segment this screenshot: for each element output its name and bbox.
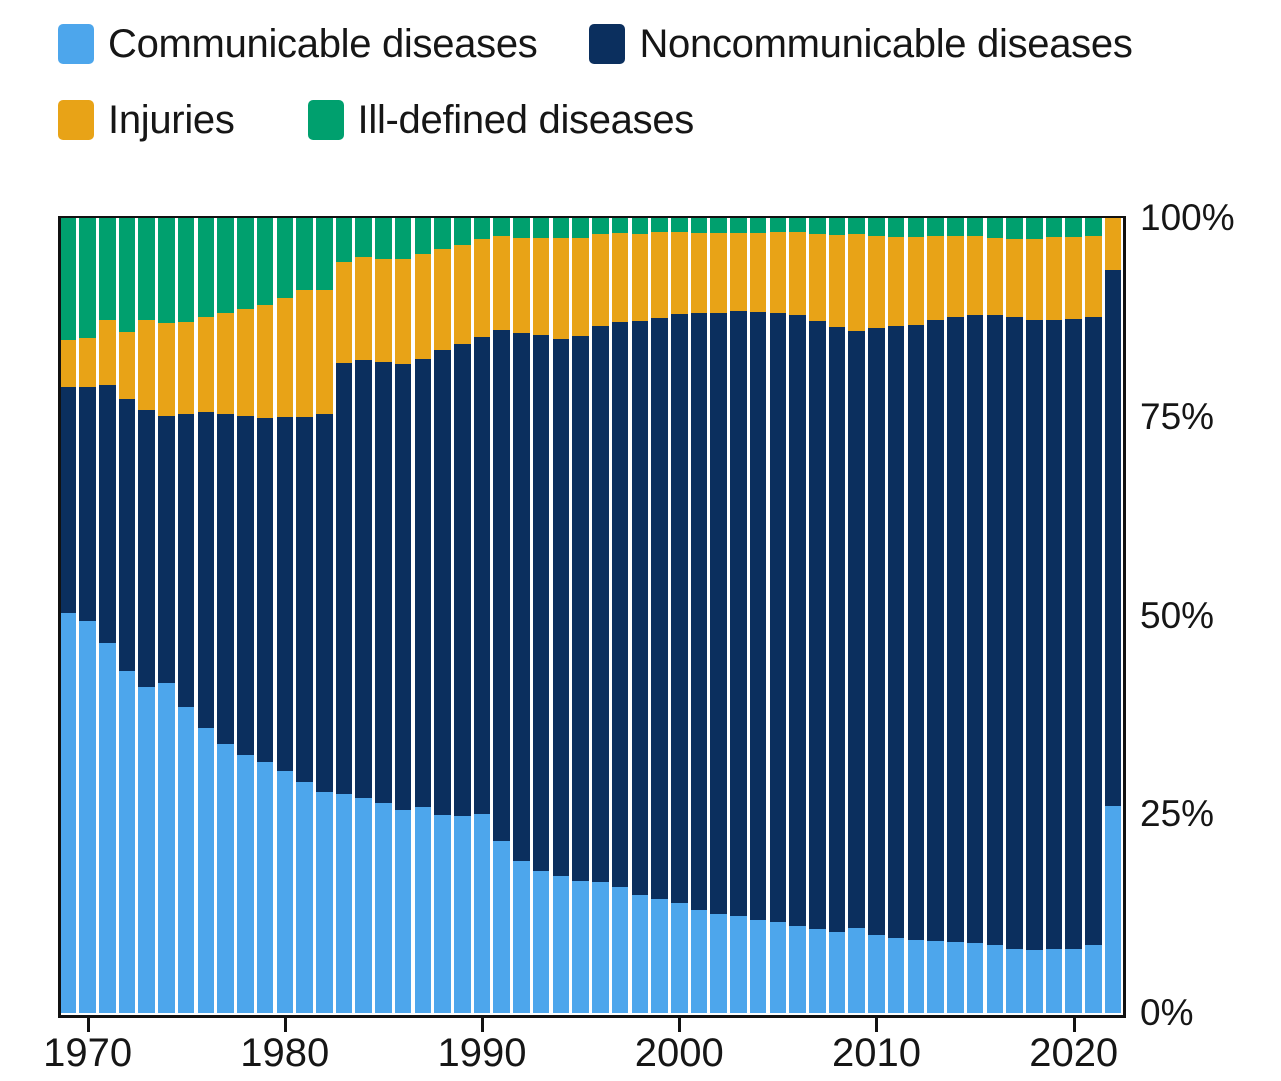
segment-ill-defined-diseases-2004: [750, 218, 767, 233]
segment-noncommunicable-diseases-2011: [888, 326, 905, 938]
segment-ill-defined-diseases-1971: [99, 218, 116, 320]
segment-communicable-diseases-1976: [198, 728, 215, 1013]
segment-communicable-diseases-1999: [651, 899, 668, 1013]
segment-injuries-1983: [336, 262, 353, 363]
segment-injuries-1978: [237, 309, 254, 416]
bar-2014[interactable]: [947, 218, 964, 1013]
segment-noncommunicable-diseases-1978: [237, 416, 254, 755]
segment-communicable-diseases-1983: [336, 794, 353, 1013]
segment-injuries-1996: [592, 234, 609, 326]
segment-ill-defined-diseases-1992: [513, 218, 530, 238]
segment-injuries-1985: [375, 259, 392, 362]
segment-injuries-1994: [553, 238, 570, 339]
segment-noncommunicable-diseases-2014: [947, 317, 964, 942]
segment-injuries-2016: [987, 238, 1004, 315]
segment-injuries-1977: [217, 313, 234, 415]
segment-injuries-2020: [1065, 237, 1082, 319]
y-axis-line: [58, 218, 61, 1017]
bar-2022[interactable]: [1105, 218, 1122, 1013]
bar-2004[interactable]: [750, 218, 767, 1013]
segment-noncommunicable-diseases-2003: [730, 311, 747, 916]
bar-1985[interactable]: [375, 218, 392, 1013]
segment-noncommunicable-diseases-1972: [119, 399, 136, 671]
segment-communicable-diseases-2007: [809, 929, 826, 1013]
bar-2000[interactable]: [671, 218, 688, 1013]
segment-ill-defined-diseases-1970: [79, 218, 96, 338]
segment-noncommunicable-diseases-2001: [691, 313, 708, 909]
segment-communicable-diseases-1994: [553, 876, 570, 1013]
bar-2001[interactable]: [691, 218, 708, 1013]
y-tick-50pct: 50%: [1140, 597, 1214, 634]
segment-communicable-diseases-1969: [60, 613, 77, 1013]
segment-noncommunicable-diseases-2015: [967, 315, 984, 943]
segment-injuries-2009: [848, 234, 865, 331]
segment-noncommunicable-diseases-1971: [99, 385, 116, 643]
bar-1998[interactable]: [632, 218, 649, 1013]
segment-ill-defined-diseases-1994: [553, 218, 570, 238]
bar-1989[interactable]: [454, 218, 471, 1013]
segment-injuries-2004: [750, 233, 767, 312]
segment-injuries-2000: [671, 232, 688, 315]
segment-ill-defined-diseases-2018: [1026, 218, 1043, 239]
segment-communicable-diseases-2005: [770, 922, 787, 1013]
segment-communicable-diseases-1998: [632, 895, 649, 1013]
segment-injuries-1986: [395, 259, 412, 363]
segment-injuries-2012: [908, 237, 925, 325]
segment-ill-defined-diseases-1976: [198, 218, 215, 317]
segment-injuries-1973: [138, 320, 155, 411]
segment-injuries-1988: [434, 249, 451, 350]
segment-injuries-1989: [454, 245, 471, 344]
segment-injuries-2011: [888, 237, 905, 326]
segment-noncommunicable-diseases-1983: [336, 363, 353, 794]
segment-noncommunicable-diseases-2013: [927, 320, 944, 941]
chart-plot-wrapper: 100%75%50%25%0% 197019801990200020102020: [0, 0, 1281, 1081]
segment-noncommunicable-diseases-1977: [217, 414, 234, 743]
bar-1993[interactable]: [533, 218, 550, 1013]
segment-noncommunicable-diseases-2012: [908, 325, 925, 940]
segment-ill-defined-diseases-2005: [770, 218, 787, 232]
stacked-bar-plot-area: [58, 218, 1123, 1013]
y-tick-100pct: 100%: [1140, 199, 1235, 236]
segment-ill-defined-diseases-1986: [395, 218, 412, 259]
segment-ill-defined-diseases-2000: [671, 218, 688, 232]
segment-ill-defined-diseases-2019: [1046, 218, 1063, 237]
segment-communicable-diseases-2019: [1046, 949, 1063, 1013]
segment-noncommunicable-diseases-1982: [316, 414, 333, 792]
segment-injuries-1971: [99, 320, 116, 385]
segment-communicable-diseases-1987: [415, 807, 432, 1013]
segment-noncommunicable-diseases-2008: [829, 327, 846, 932]
bar-1980[interactable]: [277, 218, 294, 1013]
segment-ill-defined-diseases-1989: [454, 218, 471, 245]
segment-noncommunicable-diseases-1980: [277, 417, 294, 771]
x-axis-line: [58, 1015, 1126, 1018]
segment-communicable-diseases-1995: [572, 881, 589, 1013]
segment-injuries-2003: [730, 233, 747, 311]
segment-ill-defined-diseases-2016: [987, 218, 1004, 238]
segment-noncommunicable-diseases-1976: [198, 412, 215, 728]
bar-1973[interactable]: [138, 218, 155, 1013]
y-tick-75pct: 75%: [1140, 398, 1214, 435]
bar-2020[interactable]: [1065, 218, 1082, 1013]
x-tick-mark-2020: [1073, 1018, 1076, 1032]
segment-ill-defined-diseases-1981: [296, 218, 313, 290]
segment-communicable-diseases-2008: [829, 932, 846, 1013]
segment-communicable-diseases-2016: [987, 945, 1004, 1013]
segment-noncommunicable-diseases-1984: [355, 360, 372, 798]
segment-communicable-diseases-1975: [178, 707, 195, 1013]
segment-communicable-diseases-2006: [789, 926, 806, 1013]
bar-1995[interactable]: [572, 218, 589, 1013]
segment-communicable-diseases-1973: [138, 687, 155, 1013]
segment-injuries-1970: [79, 338, 96, 387]
segment-injuries-2014: [947, 236, 964, 317]
bar-1984[interactable]: [355, 218, 372, 1013]
segment-communicable-diseases-2009: [848, 928, 865, 1013]
segment-communicable-diseases-1996: [592, 882, 609, 1013]
x-tick-label-1980: 1980: [240, 1031, 329, 1075]
segment-injuries-2007: [809, 234, 826, 321]
segment-communicable-diseases-2022: [1105, 806, 1122, 1013]
segment-injuries-2019: [1046, 237, 1063, 320]
bar-1970[interactable]: [79, 218, 96, 1013]
bar-1996[interactable]: [592, 218, 609, 1013]
segment-ill-defined-diseases-1991: [493, 218, 510, 236]
segment-injuries-1975: [178, 322, 195, 413]
segment-noncommunicable-diseases-1989: [454, 344, 471, 815]
segment-communicable-diseases-2003: [730, 916, 747, 1013]
segment-noncommunicable-diseases-1975: [178, 414, 195, 707]
segment-noncommunicable-diseases-2000: [671, 314, 688, 903]
segment-ill-defined-diseases-1982: [316, 218, 333, 290]
segment-ill-defined-diseases-2012: [908, 218, 925, 237]
segment-noncommunicable-diseases-2019: [1046, 320, 1063, 950]
bar-1978[interactable]: [237, 218, 254, 1013]
segment-injuries-1972: [119, 332, 136, 400]
segment-noncommunicable-diseases-1993: [533, 335, 550, 871]
segment-injuries-1993: [533, 238, 550, 335]
segment-injuries-1976: [198, 317, 215, 412]
bar-1971[interactable]: [99, 218, 116, 1013]
bar-1999[interactable]: [651, 218, 668, 1013]
segment-noncommunicable-diseases-2017: [1006, 317, 1023, 949]
segment-noncommunicable-diseases-2022: [1105, 270, 1122, 806]
bar-2018[interactable]: [1026, 218, 1043, 1013]
y-tick-25pct: 25%: [1140, 795, 1214, 832]
segment-noncommunicable-diseases-1979: [257, 418, 274, 762]
segment-noncommunicable-diseases-2009: [848, 331, 865, 928]
segment-injuries-1979: [257, 305, 274, 418]
segment-noncommunicable-diseases-1986: [395, 364, 412, 811]
segment-ill-defined-diseases-1998: [632, 218, 649, 234]
segment-injuries-1974: [158, 323, 175, 416]
segment-ill-defined-diseases-1979: [257, 218, 274, 305]
segment-communicable-diseases-2020: [1065, 949, 1082, 1013]
segment-injuries-2008: [829, 235, 846, 327]
bar-1975[interactable]: [178, 218, 195, 1013]
segment-communicable-diseases-2013: [927, 941, 944, 1013]
x-tick-label-2000: 2000: [635, 1031, 724, 1075]
segment-communicable-diseases-1986: [395, 810, 412, 1013]
segment-ill-defined-diseases-2017: [1006, 218, 1023, 239]
segment-noncommunicable-diseases-1990: [474, 337, 491, 814]
segment-ill-defined-diseases-2008: [829, 218, 846, 235]
segment-ill-defined-diseases-1972: [119, 218, 136, 332]
segment-noncommunicable-diseases-1969: [60, 387, 77, 613]
y-tick-0pct: 0%: [1140, 994, 1193, 1031]
bar-1972[interactable]: [119, 218, 136, 1013]
segment-communicable-diseases-1990: [474, 814, 491, 1013]
segment-ill-defined-diseases-1990: [474, 218, 491, 239]
bar-1990[interactable]: [474, 218, 491, 1013]
segment-injuries-1969: [60, 340, 77, 388]
segment-noncommunicable-diseases-2016: [987, 315, 1004, 945]
segment-noncommunicable-diseases-1996: [592, 326, 609, 882]
segment-communicable-diseases-1979: [257, 762, 274, 1013]
bar-1982[interactable]: [316, 218, 333, 1013]
segment-communicable-diseases-2012: [908, 940, 925, 1013]
segment-communicable-diseases-1972: [119, 671, 136, 1013]
segment-ill-defined-diseases-2020: [1065, 218, 1082, 237]
segment-noncommunicable-diseases-2002: [710, 313, 727, 914]
segment-injuries-2021: [1085, 236, 1102, 317]
segment-communicable-diseases-2017: [1006, 949, 1023, 1013]
segment-communicable-diseases-2011: [888, 938, 905, 1013]
bar-1976[interactable]: [198, 218, 215, 1013]
segment-communicable-diseases-2015: [967, 943, 984, 1013]
segment-noncommunicable-diseases-2010: [868, 328, 885, 935]
segment-injuries-2018: [1026, 239, 1043, 320]
segment-noncommunicable-diseases-1991: [493, 330, 510, 840]
x-tick-mark-1990: [481, 1018, 484, 1032]
segment-injuries-2002: [710, 233, 727, 313]
segment-injuries-2013: [927, 236, 944, 319]
segment-injuries-1997: [612, 233, 629, 322]
bar-2010[interactable]: [868, 218, 885, 1013]
segment-communicable-diseases-1989: [454, 816, 471, 1013]
segment-ill-defined-diseases-2009: [848, 218, 865, 234]
segment-noncommunicable-diseases-2018: [1026, 320, 1043, 950]
bar-1992[interactable]: [513, 218, 530, 1013]
segment-injuries-2017: [1006, 239, 1023, 317]
segment-injuries-1982: [316, 290, 333, 414]
segment-communicable-diseases-2001: [691, 910, 708, 1013]
segment-ill-defined-diseases-1993: [533, 218, 550, 238]
segment-communicable-diseases-2000: [671, 903, 688, 1013]
segment-injuries-1991: [493, 236, 510, 330]
bar-2011[interactable]: [888, 218, 905, 1013]
bar-2019[interactable]: [1046, 218, 1063, 1013]
segment-communicable-diseases-1977: [217, 744, 234, 1014]
y-axis-right-line: [1123, 218, 1126, 1017]
bar-1991[interactable]: [493, 218, 510, 1013]
segment-ill-defined-diseases-1975: [178, 218, 195, 322]
segment-ill-defined-diseases-1980: [277, 218, 294, 298]
segment-communicable-diseases-1971: [99, 643, 116, 1013]
segment-noncommunicable-diseases-1997: [612, 322, 629, 887]
segment-communicable-diseases-1985: [375, 803, 392, 1013]
segment-communicable-diseases-2014: [947, 942, 964, 1013]
segment-communicable-diseases-2018: [1026, 950, 1043, 1013]
segment-ill-defined-diseases-1978: [237, 218, 254, 309]
segment-injuries-2015: [967, 236, 984, 315]
bar-2015[interactable]: [967, 218, 984, 1013]
segment-injuries-1987: [415, 254, 432, 359]
segment-noncommunicable-diseases-2004: [750, 312, 767, 920]
segment-noncommunicable-diseases-1999: [651, 318, 668, 899]
segment-ill-defined-diseases-2014: [947, 218, 964, 236]
bar-1983[interactable]: [336, 218, 353, 1013]
segment-ill-defined-diseases-1977: [217, 218, 234, 313]
segment-ill-defined-diseases-1983: [336, 218, 353, 262]
bar-2003[interactable]: [730, 218, 747, 1013]
segment-communicable-diseases-1981: [296, 782, 313, 1013]
segment-communicable-diseases-1970: [79, 621, 96, 1013]
segment-injuries-1980: [277, 298, 294, 417]
segment-ill-defined-diseases-2002: [710, 218, 727, 233]
bar-1974[interactable]: [158, 218, 175, 1013]
segment-communicable-diseases-2004: [750, 920, 767, 1013]
segment-noncommunicable-diseases-2005: [770, 313, 787, 923]
bar-2006[interactable]: [789, 218, 806, 1013]
segment-ill-defined-diseases-1984: [355, 218, 372, 257]
bar-1969[interactable]: [60, 218, 77, 1013]
segment-communicable-diseases-2021: [1085, 945, 1102, 1013]
bar-1988[interactable]: [434, 218, 451, 1013]
bar-1994[interactable]: [553, 218, 570, 1013]
bar-2009[interactable]: [848, 218, 865, 1013]
segment-injuries-2010: [868, 236, 885, 327]
segment-ill-defined-diseases-2007: [809, 218, 826, 234]
segment-noncommunicable-diseases-1994: [553, 339, 570, 876]
segment-injuries-1998: [632, 234, 649, 321]
segment-noncommunicable-diseases-2006: [789, 315, 806, 926]
segment-ill-defined-diseases-1999: [651, 218, 668, 232]
segment-injuries-1984: [355, 257, 372, 360]
segment-noncommunicable-diseases-2007: [809, 321, 826, 929]
segment-ill-defined-diseases-1988: [434, 218, 451, 249]
x-tick-label-2020: 2020: [1029, 1031, 1118, 1075]
segment-communicable-diseases-1980: [277, 771, 294, 1013]
segment-ill-defined-diseases-2003: [730, 218, 747, 233]
segment-ill-defined-diseases-1995: [572, 218, 589, 238]
segment-ill-defined-diseases-1973: [138, 218, 155, 320]
x-tick-label-1970: 1970: [43, 1031, 132, 1075]
segment-ill-defined-diseases-1996: [592, 218, 609, 234]
segment-injuries-2022: [1105, 218, 1122, 270]
bar-2002[interactable]: [710, 218, 727, 1013]
bar-1987[interactable]: [415, 218, 432, 1013]
segment-injuries-1990: [474, 239, 491, 338]
x-tick-label-2010: 2010: [832, 1031, 921, 1075]
bar-1977[interactable]: [217, 218, 234, 1013]
segment-injuries-2001: [691, 233, 708, 313]
segment-communicable-diseases-2010: [868, 935, 885, 1013]
segment-noncommunicable-diseases-1995: [572, 336, 589, 881]
segment-noncommunicable-diseases-1974: [158, 416, 175, 683]
segment-noncommunicable-diseases-1973: [138, 410, 155, 687]
segment-injuries-2005: [770, 232, 787, 312]
bar-1981[interactable]: [296, 218, 313, 1013]
segment-communicable-diseases-1988: [434, 815, 451, 1013]
segment-ill-defined-diseases-1969: [60, 218, 77, 340]
bar-2007[interactable]: [809, 218, 826, 1013]
segment-noncommunicable-diseases-1985: [375, 362, 392, 803]
segment-noncommunicable-diseases-1970: [79, 387, 96, 621]
segment-noncommunicable-diseases-1992: [513, 333, 530, 861]
bar-1986[interactable]: [395, 218, 412, 1013]
segment-communicable-diseases-1991: [493, 841, 510, 1014]
segment-communicable-diseases-1984: [355, 798, 372, 1013]
x-tick-mark-1970: [87, 1018, 90, 1032]
x-tick-label-1990: 1990: [438, 1031, 527, 1075]
x-tick-mark-2010: [875, 1018, 878, 1032]
segment-noncommunicable-diseases-1988: [434, 350, 451, 815]
bar-2021[interactable]: [1085, 218, 1102, 1013]
x-tick-mark-1980: [284, 1018, 287, 1032]
segment-ill-defined-diseases-2021: [1085, 218, 1102, 235]
segment-ill-defined-diseases-2010: [868, 218, 885, 236]
bar-2013[interactable]: [927, 218, 944, 1013]
bar-1979[interactable]: [257, 218, 274, 1013]
segment-noncommunicable-diseases-2020: [1065, 319, 1082, 949]
segment-injuries-1995: [572, 238, 589, 337]
segment-ill-defined-diseases-1985: [375, 218, 392, 259]
bar-1997[interactable]: [612, 218, 629, 1013]
bar-2016[interactable]: [987, 218, 1004, 1013]
segment-ill-defined-diseases-2015: [967, 218, 984, 236]
segment-ill-defined-diseases-2001: [691, 218, 708, 233]
segment-communicable-diseases-1993: [533, 871, 550, 1013]
bar-2012[interactable]: [908, 218, 925, 1013]
x-tick-mark-2000: [678, 1018, 681, 1032]
segment-communicable-diseases-1997: [612, 887, 629, 1013]
bar-2008[interactable]: [829, 218, 846, 1013]
segment-ill-defined-diseases-2013: [927, 218, 944, 236]
segment-injuries-1999: [651, 232, 668, 318]
segment-ill-defined-diseases-1974: [158, 218, 175, 323]
segment-ill-defined-diseases-2006: [789, 218, 806, 232]
segment-injuries-1981: [296, 290, 313, 416]
segment-communicable-diseases-1974: [158, 683, 175, 1013]
segment-communicable-diseases-2002: [710, 914, 727, 1013]
bar-2017[interactable]: [1006, 218, 1023, 1013]
segment-injuries-1992: [513, 238, 530, 333]
segment-noncommunicable-diseases-2021: [1085, 317, 1102, 946]
segment-injuries-2006: [789, 232, 806, 315]
segment-communicable-diseases-1982: [316, 792, 333, 1013]
bar-2005[interactable]: [770, 218, 787, 1013]
segment-noncommunicable-diseases-1987: [415, 359, 432, 807]
segment-communicable-diseases-1978: [237, 755, 254, 1013]
segment-ill-defined-diseases-2011: [888, 218, 905, 237]
segment-noncommunicable-diseases-1998: [632, 321, 649, 894]
segment-noncommunicable-diseases-1981: [296, 417, 313, 783]
segment-ill-defined-diseases-1987: [415, 218, 432, 254]
segment-ill-defined-diseases-1997: [612, 218, 629, 233]
segment-communicable-diseases-1992: [513, 861, 530, 1013]
